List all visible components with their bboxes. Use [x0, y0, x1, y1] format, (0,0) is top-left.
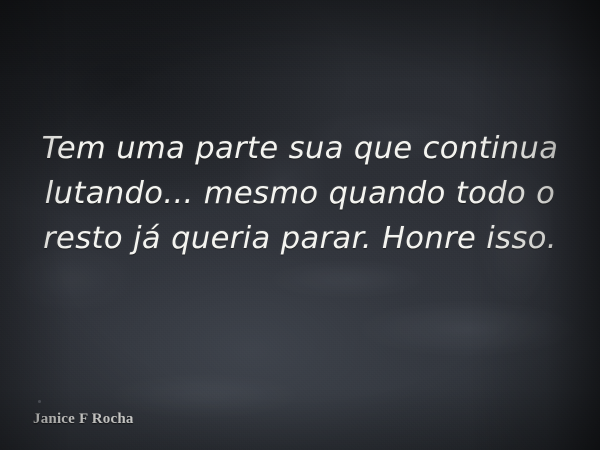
- chalk-speck: [38, 400, 41, 403]
- quote-text: Tem uma parte sua que continua lutando..…: [0, 126, 600, 261]
- author-signature: Janice F Rocha: [33, 411, 134, 428]
- chalkboard-quote-card: Tem uma parte sua que continua lutando..…: [0, 0, 600, 450]
